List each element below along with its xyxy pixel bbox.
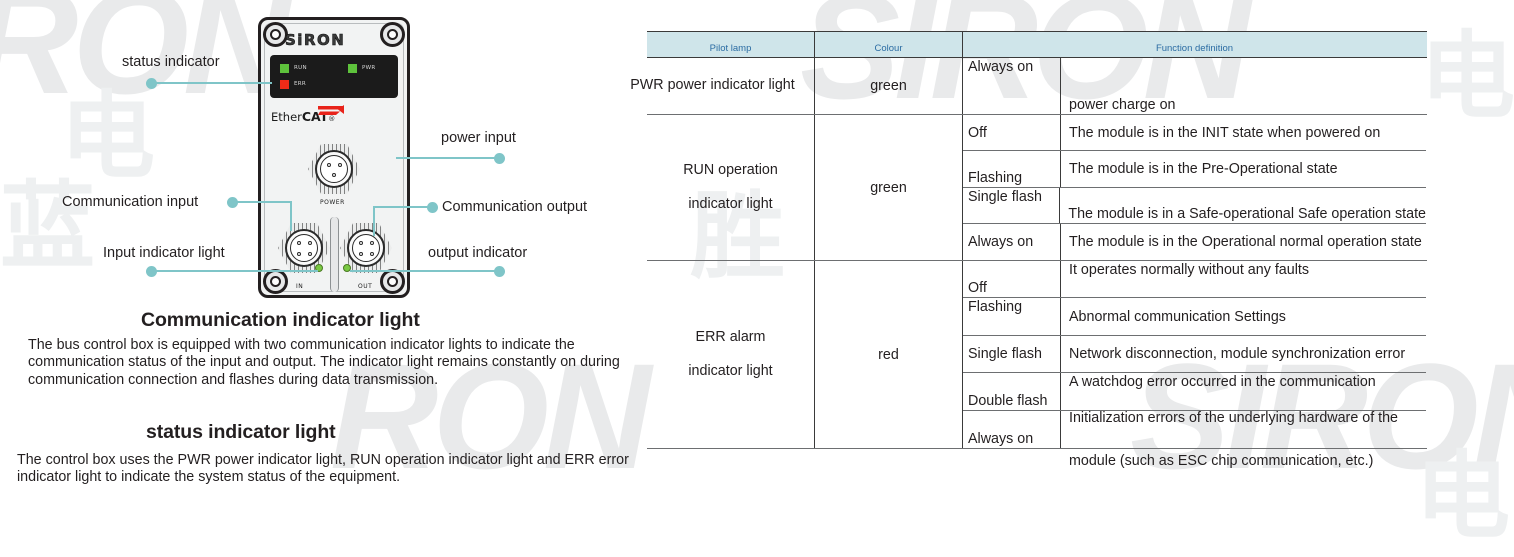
err-led [280, 80, 289, 89]
table-cell-state: Flashing [963, 151, 1061, 186]
table-cell-states: OffThe module is in the INIT state when … [963, 115, 1426, 260]
callout-power-input-label: power input [441, 130, 516, 146]
description-line-1: Initialization errors of the underlying … [1069, 411, 1426, 425]
table-group-row: ERR alarmindicator lightredOffIt operate… [647, 261, 1427, 449]
pilot-lamp-name-line: indicator light [688, 188, 772, 222]
table-header-pilot-lamp: Pilot lamp [647, 32, 815, 57]
table-cell-state: Double flash [963, 373, 1061, 409]
out-pin-2 [370, 241, 374, 245]
table-cell-state: Always on [963, 411, 1061, 448]
table-cell-description: It operates normally without any faults [1061, 261, 1426, 297]
err-led-label: ERR [294, 81, 306, 87]
table-cell-state: Off [963, 115, 1061, 150]
power-pin-3 [332, 173, 336, 177]
table-cell-states: Always onpower charge on [963, 58, 1426, 114]
ethercat-arrow-icon [318, 105, 346, 118]
indicator-function-table: Pilot lamp Colour Function definition PW… [647, 31, 1427, 449]
table-cell-pilot-lamp: RUN operationindicator light [647, 115, 815, 260]
section-body-communication: The bus control box is equipped with two… [28, 337, 646, 389]
run-led [280, 64, 289, 73]
table-cell-description: Initialization errors of the underlying … [1061, 411, 1426, 448]
table-cell-description: The module is in the INIT state when pow… [1061, 115, 1426, 150]
led-panel: RUN ERR PWR [270, 55, 398, 98]
table-cell-description: A watchdog error occurred in the communi… [1061, 373, 1426, 409]
out-pin-3 [359, 252, 363, 256]
description-line-2: module (such as ESC chip communication, … [1069, 454, 1426, 468]
table-state-row: OffIt operates normally without any faul… [963, 261, 1426, 298]
table-cell-description: The module is in the Pre-Operational sta… [1061, 151, 1426, 186]
table-state-row: FlashingThe module is in the Pre-Operati… [963, 151, 1426, 187]
table-cell-pilot-lamp: PWR power indicator light [647, 58, 815, 114]
table-cell-pilot-lamp: ERR alarmindicator light [647, 261, 815, 448]
table-cell-state: Single flash [963, 188, 1060, 223]
power-connector [308, 143, 360, 195]
in-pin-1 [297, 241, 301, 245]
table-cell-states: OffIt operates normally without any faul… [963, 261, 1426, 448]
table-state-row: Single flashNetwork disconnection, modul… [963, 336, 1426, 373]
table-body: PWR power indicator lightgreenAlways onp… [647, 58, 1427, 449]
callout-input-indicator-line [156, 270, 318, 272]
table-state-row: OffThe module is in the INIT state when … [963, 115, 1426, 151]
table-header-row: Pilot lamp Colour Function definition [647, 31, 1427, 58]
table-cell-colour: green [815, 58, 963, 114]
in-pin-3 [297, 252, 301, 256]
pilot-lamp-name-line: ERR alarm [696, 321, 766, 355]
pilot-lamp-name-line: RUN operation [683, 154, 778, 188]
table-cell-description: Network disconnection, module synchroniz… [1061, 336, 1426, 372]
power-port-label: POWER [320, 199, 345, 206]
left-panel: SiRON RUN ERR PWR EtherCAT® POWER [0, 0, 648, 506]
section-body-status: The control box uses the PWR power indic… [17, 452, 642, 487]
pilot-lamp-name-line: indicator light [688, 355, 772, 389]
table-cell-colour: green [815, 115, 963, 260]
ethercat-prefix: Ether [271, 110, 302, 124]
callout-output-indicator-label: output indicator [428, 245, 527, 261]
callout-status-indicator-line [156, 82, 272, 84]
table-cell-state: Single flash [963, 336, 1061, 372]
power-pin-1 [327, 163, 331, 167]
siron-logo: SiRON [285, 31, 345, 49]
table-state-row: Single flashThe module is in a Safe-oper… [963, 188, 1426, 224]
pwr-led-label: PWR [362, 65, 375, 71]
pilot-lamp-name-line: PWR power indicator light [610, 69, 815, 103]
table-cell-colour: red [815, 261, 963, 448]
table-cell-description: The module is in a Safe-operational Safe… [1060, 188, 1426, 223]
callout-output-indicator-line [350, 270, 496, 272]
table-group-row: PWR power indicator lightgreenAlways onp… [647, 58, 1427, 115]
callout-input-indicator-label: Input indicator light [103, 245, 225, 261]
table-group-row: RUN operationindicator lightgreenOffThe … [647, 115, 1427, 261]
pwr-led [348, 64, 357, 73]
in-pin-4 [308, 252, 312, 256]
callout-communication-input-line [237, 201, 291, 203]
callout-communication-output-label: Communication output [442, 199, 587, 215]
table-cell-description: Abnormal communication Settings [1061, 298, 1426, 334]
in-connector-ring-inner [290, 234, 318, 262]
mounting-screw-top-right [380, 22, 405, 47]
callout-communication-input-label: Communication input [62, 194, 198, 210]
table-state-row: Double flashA watchdog error occurred in… [963, 373, 1426, 410]
section-title-status: status indicator light [146, 421, 336, 444]
run-led-label: RUN [294, 65, 307, 71]
callout-communication-output-vline [373, 206, 375, 236]
callout-communication-input-vline [290, 201, 292, 231]
table-state-row: Always onInitialization errors of the un… [963, 411, 1426, 448]
watermark-text: 电 [1415, 420, 1510, 557]
out-pin-1 [359, 241, 363, 245]
device-illustration: SiRON RUN ERR PWR EtherCAT® POWER [258, 17, 410, 298]
table-cell-description: power charge on [1061, 58, 1426, 114]
table-cell-state: Always on [963, 58, 1061, 114]
out-connector-ring-inner [352, 234, 380, 262]
device-center-slot [330, 217, 339, 292]
callout-status-indicator-label: status indicator [122, 54, 220, 70]
power-connector-ring-inner [320, 155, 348, 183]
out-port-label: OUT [358, 283, 372, 290]
table-state-row: Always onpower charge on [963, 58, 1426, 114]
table-state-row: Always onThe module is in the Operationa… [963, 224, 1426, 260]
section-title-communication: Communication indicator light [141, 309, 420, 332]
table-cell-state: Off [963, 261, 1061, 297]
out-pin-4 [370, 252, 374, 256]
callout-power-input-line [396, 157, 496, 159]
power-pin-2 [338, 163, 342, 167]
table-cell-description: The module is in the Operational normal … [1061, 224, 1426, 260]
in-pin-2 [308, 241, 312, 245]
table-cell-state: Flashing [963, 298, 1061, 334]
callout-communication-output-line [373, 206, 429, 208]
table-header-function-definition: Function definition [963, 32, 1426, 57]
table-state-row: FlashingAbnormal communication Settings [963, 298, 1426, 335]
in-port-label: IN [296, 283, 303, 290]
table-cell-state: Always on [963, 224, 1061, 260]
watermark-text: 电 [1420, 0, 1514, 137]
table-header-colour: Colour [815, 32, 963, 57]
